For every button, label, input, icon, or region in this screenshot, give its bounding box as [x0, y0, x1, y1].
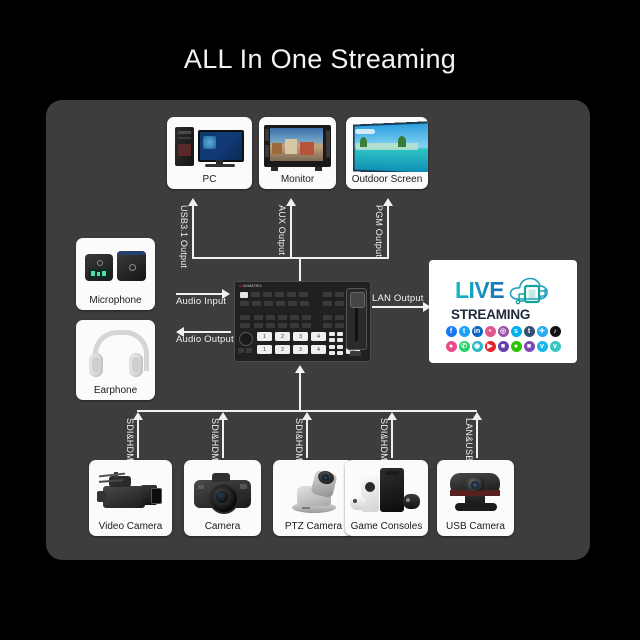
device-card-monitor[interactable]: Monitor — [259, 117, 336, 189]
input-drop-2 — [222, 418, 224, 458]
output-riser-usb — [192, 205, 194, 259]
device-card-camera[interactable]: Camera — [184, 460, 261, 536]
video-switcher-console[interactable]: AVAVMATRIX — [234, 281, 371, 362]
device-label: Video Camera — [89, 519, 172, 536]
output-stem-line — [299, 257, 301, 284]
switcher-key[interactable] — [329, 332, 335, 336]
arrow-up-usb — [188, 198, 198, 206]
usb-webcam-icon — [437, 460, 514, 519]
switcher-key[interactable] — [240, 301, 249, 306]
switcher-key[interactable] — [323, 292, 332, 297]
switcher-key[interactable] — [323, 315, 332, 320]
switcher-key[interactable] — [323, 323, 332, 328]
switcher-key[interactable] — [335, 323, 344, 328]
switcher-key[interactable] — [290, 315, 299, 320]
ptz-camera-icon — [273, 460, 354, 519]
audio-input-line — [176, 293, 223, 295]
switcher-key[interactable] — [246, 348, 252, 353]
switcher-key[interactable] — [290, 323, 299, 328]
switcher-key[interactable] — [287, 292, 296, 297]
switcher-key[interactable] — [302, 315, 311, 320]
wireless-microphone-icon — [76, 238, 155, 293]
preview-button-4[interactable]: 4 — [311, 345, 326, 354]
device-label: Monitor — [259, 172, 336, 189]
program-button-1[interactable]: 1 — [257, 332, 272, 341]
desktop-computer-icon — [167, 117, 252, 172]
icon-glyph: v — [550, 341, 561, 352]
icon-glyph: t — [459, 326, 470, 337]
live-streaming-content: LIVE STREAMING ftin•◎st✈♪ ●✆◉▶■●■vv — [429, 274, 577, 352]
icon-glyph: ◉ — [472, 341, 483, 352]
twitch-icon[interactable]: ■ — [498, 341, 509, 352]
output-riser-pgm — [387, 205, 389, 259]
switcher-key[interactable] — [240, 323, 250, 328]
input-stem-line — [299, 372, 301, 412]
whatsapp-icon[interactable]: ✆ — [459, 341, 470, 352]
connection-label-aux: AUX Output — [277, 205, 287, 255]
device-label: Microphone — [76, 293, 155, 310]
facebook-icon[interactable]: f — [446, 326, 457, 337]
headphones-icon — [76, 320, 155, 383]
switcher-key[interactable] — [238, 348, 244, 353]
icon-glyph: ✆ — [459, 341, 470, 352]
device-card-video-camera[interactable]: Video Camera — [89, 460, 172, 536]
social-icons-row-1: ftin•◎st✈♪ — [446, 326, 561, 337]
switcher-key[interactable] — [266, 315, 275, 320]
switcher-key[interactable] — [337, 351, 343, 355]
device-label: Camera — [184, 519, 261, 536]
device-label: Outdoor Screen — [346, 172, 428, 189]
switcher-key[interactable] — [278, 315, 287, 320]
program-button-2[interactable]: 2 — [275, 332, 290, 341]
dslr-camera-icon — [184, 460, 261, 519]
brand-text: AVMATRIX — [243, 284, 261, 288]
switcher-key[interactable] — [240, 292, 248, 298]
device-card-microphone[interactable]: Microphone — [76, 238, 155, 310]
icon-glyph: ▶ — [485, 341, 496, 352]
live-wordmark-row: LIVE — [455, 274, 551, 306]
switcher-key[interactable] — [335, 301, 344, 306]
youtube-icon[interactable]: ▶ — [485, 341, 496, 352]
device-label: PC — [167, 172, 252, 189]
wechat-icon[interactable]: ● — [511, 341, 522, 352]
broadcast-monitor-icon — [259, 117, 336, 172]
switcher-key[interactable] — [302, 323, 311, 328]
icon-glyph: v — [537, 341, 548, 352]
flickr-icon[interactable]: • — [485, 326, 496, 337]
icon-glyph: ✈ — [537, 326, 548, 337]
diagram-stage: ALL In One Streaming PC Moni — [0, 0, 640, 640]
switcher-key[interactable] — [337, 345, 343, 349]
connection-label-audio-input: Audio Input — [176, 296, 226, 307]
preview-button-1[interactable]: 1 — [257, 345, 272, 354]
device-label: PTZ Camera — [273, 519, 354, 536]
twitch2-icon[interactable]: ■ — [524, 341, 535, 352]
preview-button-2[interactable]: 2 — [275, 345, 290, 354]
twitter-icon[interactable]: t — [459, 326, 470, 337]
icon-glyph: ■ — [524, 341, 535, 352]
device-card-usb-camera[interactable]: USB Camera — [437, 460, 514, 536]
switcher-key[interactable] — [266, 323, 275, 328]
switcher-key[interactable] — [335, 315, 344, 320]
switcher-key[interactable] — [288, 301, 297, 306]
switcher-key[interactable] — [300, 301, 309, 306]
switcher-key[interactable] — [323, 301, 332, 306]
input-drop-4 — [391, 418, 393, 458]
switcher-key[interactable] — [263, 292, 272, 297]
instagram-icon[interactable]: ◎ — [498, 326, 509, 337]
page-title: ALL In One Streaming — [0, 44, 640, 75]
connection-label-lan-output: LAN Output — [372, 293, 424, 304]
device-card-game-consoles[interactable]: Game Consoles — [345, 460, 428, 536]
connection-label-pgm: PGM Output — [374, 205, 384, 257]
switcher-key[interactable] — [254, 323, 263, 328]
device-label: Earphone — [76, 383, 155, 400]
icon-glyph: • — [485, 326, 496, 337]
tumblr-icon[interactable]: t — [524, 326, 535, 337]
icon-glyph: f — [446, 326, 457, 337]
icon-glyph: s — [511, 326, 522, 337]
camcorder-icon — [89, 460, 172, 519]
game-console-icon — [345, 460, 428, 519]
device-card-outdoor-screen[interactable]: Outdoor Screen — [346, 117, 428, 189]
switcher-key[interactable] — [278, 323, 287, 328]
streaming-wordmark: STREAMING — [451, 308, 530, 322]
lan-output-line — [372, 306, 424, 308]
switcher-key[interactable] — [335, 292, 344, 297]
cloud-device-icon — [507, 274, 551, 306]
icon-glyph: ● — [511, 341, 522, 352]
switcher-key[interactable] — [329, 351, 335, 355]
arrow-up-switcher-input — [295, 365, 305, 373]
program-button-4[interactable]: 4 — [311, 332, 326, 341]
switcher-key[interactable] — [240, 315, 250, 320]
output-riser-aux — [290, 205, 292, 259]
switcher-key[interactable] — [251, 292, 260, 297]
icon-glyph: ◎ — [498, 326, 509, 337]
t-bar-fader[interactable] — [346, 288, 367, 350]
input-drop-3 — [306, 418, 308, 458]
telegram-icon[interactable]: ✈ — [537, 326, 548, 337]
icon-glyph: in — [472, 326, 483, 337]
live-wordmark: LIVE — [455, 279, 504, 302]
linkedin-icon[interactable]: in — [472, 326, 483, 337]
switcher-key[interactable] — [254, 315, 263, 320]
arrow-up-pgm — [383, 198, 393, 206]
switcher-rotary-knob[interactable] — [239, 332, 253, 346]
dribbble-icon[interactable]: ● — [446, 341, 457, 352]
arrow-up-aux — [286, 198, 296, 206]
preview-button-3[interactable]: 3 — [293, 345, 308, 354]
vk-icon[interactable]: v — [550, 341, 561, 352]
live-streaming-card[interactable]: LIVE STREAMING ftin•◎st✈♪ ●✆◉▶■●■vv — [429, 260, 577, 363]
switcher-key[interactable] — [276, 301, 285, 306]
social-icons-row-2: ●✆◉▶■●■vv — [446, 341, 561, 352]
device-label: USB Camera — [437, 519, 514, 536]
input-drop-5 — [476, 418, 478, 458]
icon-glyph: ■ — [498, 341, 509, 352]
switcher-key[interactable] — [337, 338, 343, 342]
switcher-key[interactable] — [329, 345, 335, 349]
skype-icon[interactable]: s — [511, 326, 522, 337]
switcher-key[interactable] — [275, 292, 284, 297]
icon-glyph: ♪ — [550, 326, 561, 337]
device-card-ptz-camera[interactable]: PTZ Camera — [273, 460, 354, 536]
switcher-key[interactable] — [337, 332, 343, 336]
device-label: Game Consoles — [345, 519, 428, 536]
program-button-3[interactable]: 3 — [293, 332, 308, 341]
switcher-brand: AVAVMATRIX — [239, 284, 262, 288]
connection-label-usb31: USB3.1 Output — [179, 205, 189, 268]
switcher-key[interactable] — [252, 301, 261, 306]
icon-glyph: ● — [446, 341, 457, 352]
input-drop-1 — [137, 418, 139, 458]
switcher-key[interactable] — [329, 338, 335, 342]
vimeo-icon[interactable]: v — [537, 341, 548, 352]
tiktok-icon[interactable]: ♪ — [550, 326, 561, 337]
device-card-earphone[interactable]: Earphone — [76, 320, 155, 400]
outdoor-led-screen-icon — [346, 117, 428, 172]
fader-grip[interactable] — [350, 292, 365, 308]
icon-glyph: t — [524, 326, 535, 337]
switcher-key[interactable] — [350, 351, 361, 356]
periscope-icon[interactable]: ◉ — [472, 341, 483, 352]
device-card-pc[interactable]: PC — [167, 117, 252, 189]
switcher-key[interactable] — [299, 292, 308, 297]
connection-label-audio-output: Audio Output — [176, 334, 234, 345]
audio-output-line — [184, 331, 231, 333]
switcher-key[interactable] — [264, 301, 273, 306]
